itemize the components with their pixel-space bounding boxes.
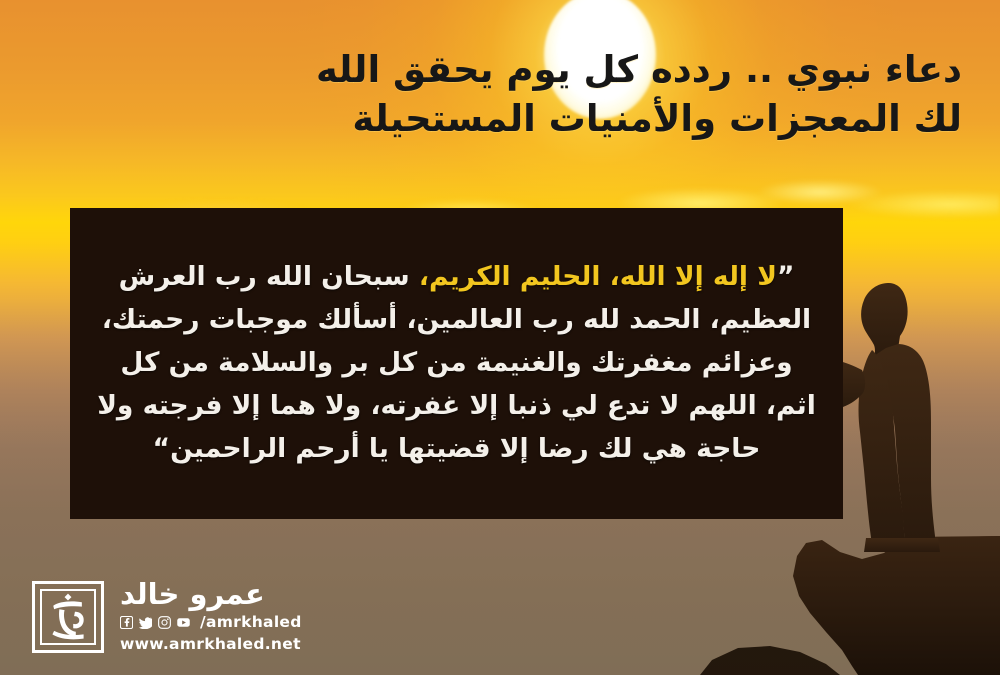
quote-highlight-phrase: لا إله إلا الله، الحليم الكريم،: [419, 261, 777, 292]
brand-text-block: عمرو خالد: [120, 580, 302, 653]
quote-panel: ”لا إله إلا الله، الحليم الكريم، سبحان ا…: [70, 208, 843, 519]
quote-open-mark: ”: [777, 261, 794, 292]
quote-close-mark: “: [153, 433, 170, 464]
title-line-1: دعاء نبوي .. ردده كل يوم يحقق الله: [132, 46, 962, 95]
website-url[interactable]: www.amrkhaled.net: [120, 635, 301, 653]
youtube-icon[interactable]: [177, 616, 190, 629]
dua-quote-text: ”لا إله إلا الله، الحليم الكريم، سبحان ا…: [70, 256, 843, 471]
social-links-row: /amrkhaled: [120, 613, 302, 631]
page-title: دعاء نبوي .. ردده كل يوم يحقق الله لك ال…: [132, 46, 962, 144]
twitter-icon[interactable]: [139, 616, 152, 629]
brand-footer: عمرو خالد: [32, 580, 302, 653]
instagram-icon[interactable]: [158, 616, 171, 629]
title-line-2: لك المعجزات والأمنيات المستحيلة: [132, 95, 962, 144]
dua-poster-card: دعاء نبوي .. ردده كل يوم يحقق الله لك ال…: [0, 0, 1000, 675]
brand-name: عمرو خالد: [120, 580, 265, 609]
facebook-icon[interactable]: [120, 616, 133, 629]
social-handle[interactable]: /amrkhaled: [200, 613, 302, 631]
logo-calligraphy-icon: [42, 591, 94, 643]
amrkhaled-logo[interactable]: [32, 581, 104, 653]
